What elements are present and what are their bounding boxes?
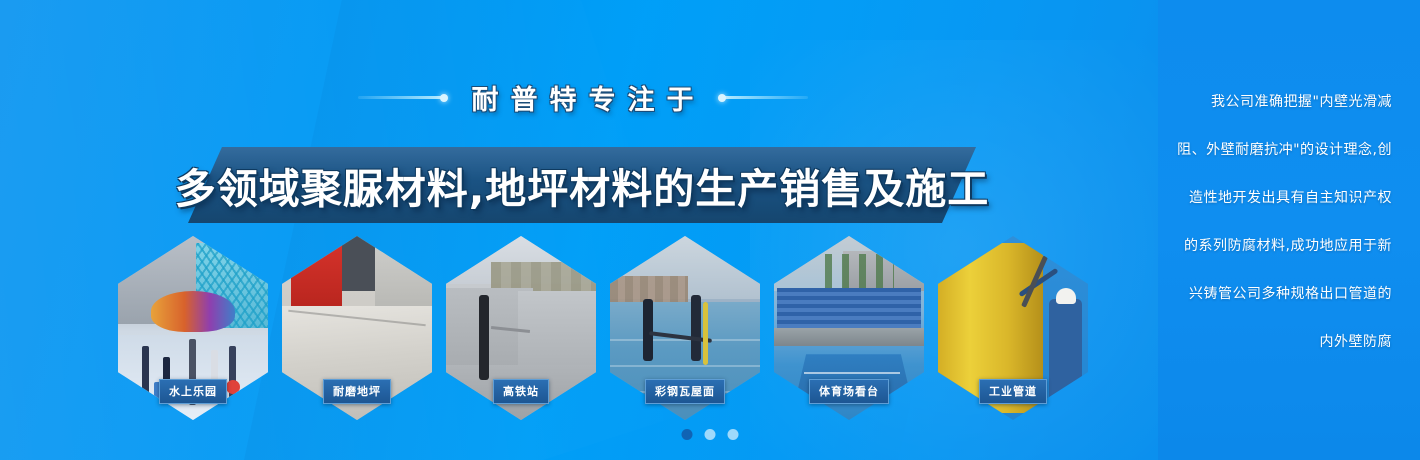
thumbnail-caption: 工业管道 bbox=[979, 379, 1047, 404]
description-line: 我公司准确把握"内壁光滑减 bbox=[1174, 78, 1392, 126]
thumbnail-item-color-steel-tile-roof[interactable]: 彩钢瓦屋面 bbox=[610, 236, 760, 420]
decorative-rule-right-icon bbox=[722, 96, 808, 99]
description-line: 造性地开发出具有自主知识产权 bbox=[1174, 174, 1392, 222]
thumbnail-caption: 耐磨地坪 bbox=[323, 379, 391, 404]
headline-text: 多领域聚脲材料,地坪材料的生产销售及施工 bbox=[188, 147, 976, 223]
thumbnail-item-high-speed-rail-station[interactable]: 高铁站 bbox=[446, 236, 596, 420]
description-line: 的系列防腐材料,成功地应用于新 bbox=[1174, 222, 1392, 270]
thumbnail-caption: 高铁站 bbox=[493, 379, 549, 404]
thumbnail-caption: 彩钢瓦屋面 bbox=[645, 379, 725, 404]
thumbnail-item-water-park[interactable]: 水上乐园 bbox=[118, 236, 268, 420]
thumbnail-item-stadium-stands[interactable]: 体育场看台 bbox=[774, 236, 924, 420]
right-description-block: 我公司准确把握"内壁光滑减 阻、外壁耐磨抗冲"的设计理念,创 造性地开发出具有自… bbox=[1174, 78, 1392, 366]
carousel-dot-2[interactable] bbox=[705, 429, 716, 440]
promo-banner: 耐普特专注于 多领域聚脲材料,地坪材料的生产销售及施工 水上乐园 bbox=[0, 0, 1420, 460]
description-line: 内外壁防腐 bbox=[1174, 318, 1392, 366]
carousel-dot-1[interactable] bbox=[682, 429, 693, 440]
description-line: 兴铸管公司多种规格出口管道的 bbox=[1174, 270, 1392, 318]
tagline-row: 耐普特专注于 bbox=[0, 78, 1165, 117]
decorative-rule-left-icon bbox=[358, 96, 444, 99]
thumbnail-item-industrial-pipeline[interactable]: 工业管道 bbox=[938, 236, 1088, 420]
description-line: 阻、外壁耐磨抗冲"的设计理念,创 bbox=[1174, 126, 1392, 174]
tagline-text: 耐普特专注于 bbox=[460, 78, 706, 117]
thumbnail-caption: 水上乐园 bbox=[159, 379, 227, 404]
carousel-dots bbox=[682, 429, 739, 440]
thumbnail-row: 水上乐园 耐磨地坪 高铁站 bbox=[118, 236, 1158, 422]
carousel-dot-3[interactable] bbox=[728, 429, 739, 440]
thumbnail-caption: 体育场看台 bbox=[809, 379, 889, 404]
thumbnail-item-wear-resistant-floor[interactable]: 耐磨地坪 bbox=[282, 236, 432, 420]
